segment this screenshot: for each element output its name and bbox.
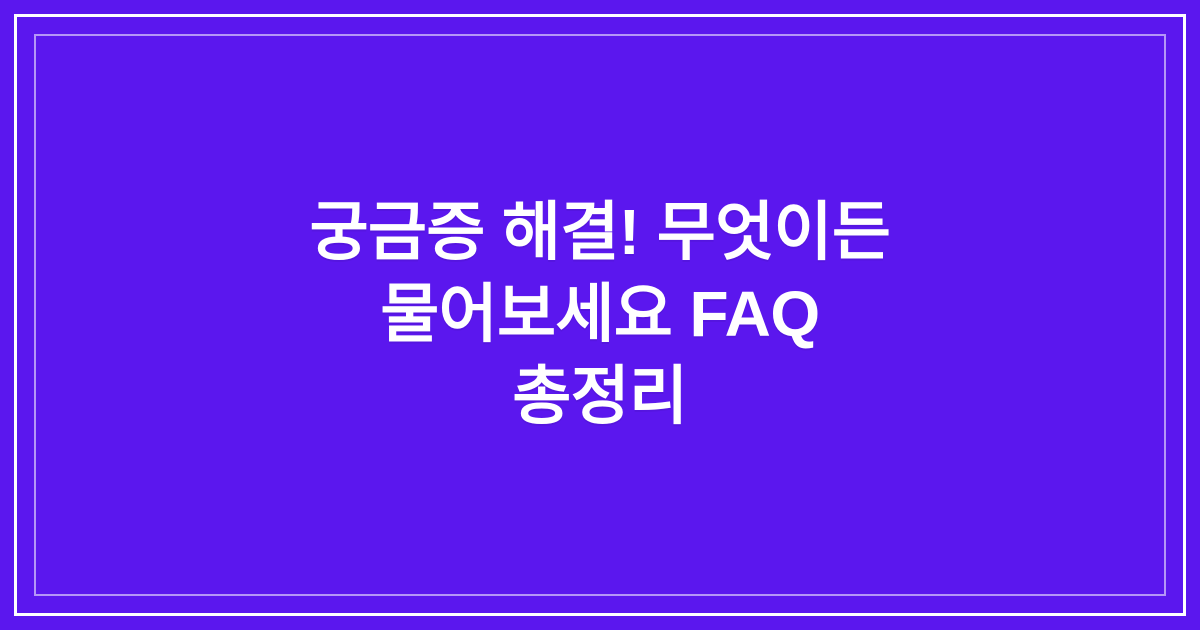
title-container: 궁금증 해결! 무엇이든 물어보세요 FAQ 총정리: [170, 192, 1030, 438]
banner-title: 궁금증 해결! 무엇이든 물어보세요 FAQ 총정리: [170, 192, 1030, 438]
promo-banner: 궁금증 해결! 무엇이든 물어보세요 FAQ 총정리: [0, 0, 1200, 630]
